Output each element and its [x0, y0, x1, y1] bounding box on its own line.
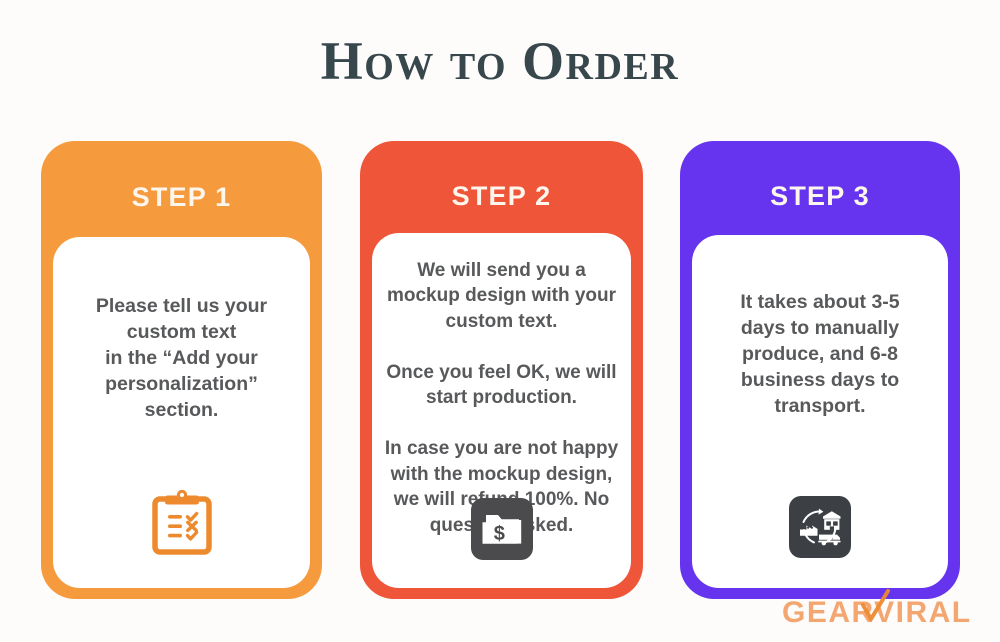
step-3-body-text: It takes about 3-5 days to manually prod… — [692, 290, 948, 420]
watermark-check-icon — [858, 589, 892, 636]
clipboard-checklist-icon — [151, 490, 213, 561]
steps-container: STEP 1 Please tell us your custom text i… — [0, 141, 1000, 599]
step-2-panel: We will send you a mockup design with yo… — [372, 233, 631, 588]
step-card-3: STEP 3 It takes about 3-5 days to manual… — [680, 141, 960, 599]
step-3-label: STEP 3 — [680, 141, 960, 212]
step-3-panel: It takes about 3-5 days to manually prod… — [692, 235, 948, 588]
step-1-label: STEP 1 — [41, 141, 322, 213]
step-2-label: STEP 2 — [360, 141, 643, 212]
step-3-icon-wrap — [692, 496, 948, 563]
step-2-icon-wrap: $ — [372, 498, 631, 565]
step-1-body-text: Please tell us your custom text in the “… — [53, 294, 310, 424]
folder-dollar-icon: $ — [471, 498, 533, 565]
step-2-body-text: We will send you a mockup design with yo… — [372, 258, 631, 538]
step-1-panel: Please tell us your custom text in the “… — [53, 237, 310, 588]
svg-text:$: $ — [493, 523, 504, 545]
supply-chain-shipping-icon — [789, 496, 851, 563]
step-1-icon-wrap — [53, 490, 310, 561]
step-card-1: STEP 1 Please tell us your custom text i… — [41, 141, 322, 599]
step-card-2: STEP 2 We will send you a mockup design … — [360, 141, 643, 599]
watermark-logo: GEARVIRAL — [782, 590, 980, 634]
page-title: How to Order — [0, 33, 1000, 90]
